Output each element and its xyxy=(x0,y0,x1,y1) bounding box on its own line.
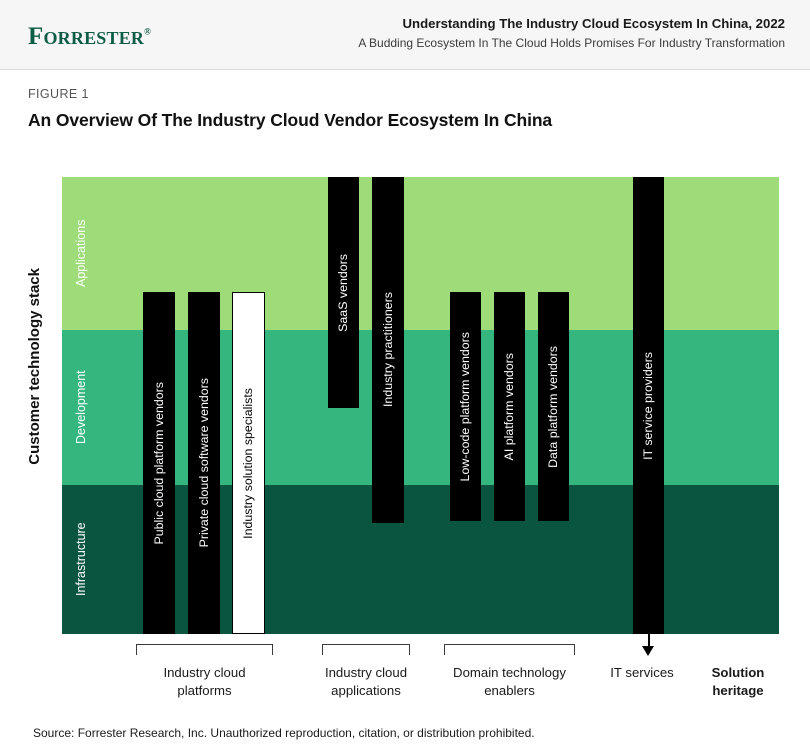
group-bracket-industry-cloud xyxy=(322,644,410,655)
group-label-line2: heritage xyxy=(692,682,784,700)
vendor-bar-industry-solution-specialists[interactable]: Industry solution specialists xyxy=(232,292,265,634)
vendor-bar-low-code-platform-vendors[interactable]: Low-code platform vendors xyxy=(450,292,481,521)
vendor-bar-label: Data platform vendors xyxy=(547,346,559,468)
vendor-bar-public-cloud-platform-vendors[interactable]: Public cloud platform vendors xyxy=(143,292,175,634)
vendor-bar-label: IT service providers xyxy=(642,352,654,460)
vendor-bar-label: SaaS vendors xyxy=(337,254,349,332)
group-label-industry-cloud: Industry cloudplatforms xyxy=(136,664,273,700)
group-label-line1: Domain technology xyxy=(444,664,575,682)
group-bracket-industry-cloud xyxy=(136,644,273,655)
vendor-bar-label: Low-code platform vendors xyxy=(459,332,471,481)
vendor-bar-label: Industry practitioners xyxy=(382,292,394,407)
group-label-line2: platforms xyxy=(136,682,273,700)
group-label-domain-technology: Domain technologyenablers xyxy=(444,664,575,700)
group-label-line1: IT services xyxy=(592,664,692,682)
vendor-bar-private-cloud-software-vendors[interactable]: Private cloud software vendors xyxy=(188,292,220,634)
arrow-down-icon xyxy=(642,646,654,656)
vendor-bar-data-platform-vendors[interactable]: Data platform vendors xyxy=(538,292,569,521)
band-label-applications: Applications xyxy=(68,177,94,330)
group-label-line2: applications xyxy=(312,682,420,700)
group-label-line1: Industry cloud xyxy=(312,664,420,682)
vendor-bar-saas-vendors[interactable]: SaaS vendors xyxy=(328,177,359,408)
vendor-bar-label: AI platform vendors xyxy=(503,353,515,460)
group-label-line2: enablers xyxy=(444,682,575,700)
vendor-bar-label: Private cloud software vendors xyxy=(198,378,210,547)
group-label-it-services: IT services xyxy=(592,664,692,682)
vendor-bar-industry-practitioners[interactable]: Industry practitioners xyxy=(372,177,404,523)
chart-container: Customer technology stack ApplicationsDe… xyxy=(0,0,810,746)
vendor-bar-it-service-providers[interactable]: IT service providers xyxy=(633,177,664,634)
band-label-development: Development xyxy=(68,330,94,485)
vendor-bar-ai-platform-vendors[interactable]: AI platform vendors xyxy=(494,292,525,521)
group-label-line1: Solution xyxy=(692,664,784,682)
y-axis-title: Customer technology stack xyxy=(26,268,43,465)
vendor-bar-label: Public cloud platform vendors xyxy=(153,382,165,545)
vendor-bar-label: Industry solution specialists xyxy=(242,388,254,539)
band-label-infrastructure: Infrastructure xyxy=(68,485,94,634)
source-note: Source: Forrester Research, Inc. Unautho… xyxy=(33,726,535,740)
group-label-solution: Solutionheritage xyxy=(692,664,784,700)
group-bracket-domain-technology xyxy=(444,644,575,655)
group-label-line1: Industry cloud xyxy=(136,664,273,682)
group-label-industry-cloud: Industry cloudapplications xyxy=(312,664,420,700)
